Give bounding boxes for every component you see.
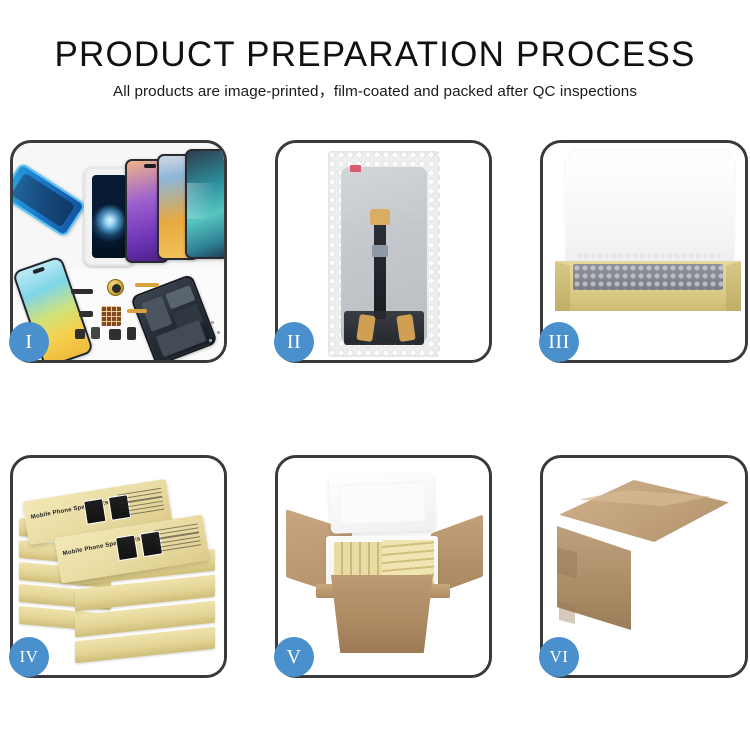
tape-mark (559, 602, 575, 624)
step-badge-3: III (539, 322, 579, 362)
tray-lip-right (726, 261, 741, 311)
carton-side-face (629, 546, 729, 640)
carton-top-face (559, 480, 729, 542)
spare-part-bar (71, 289, 93, 294)
step-badge-6: VI (539, 637, 579, 677)
box-spec-lines (118, 488, 166, 525)
step-2-photo (278, 143, 489, 360)
step-badge-1: I (9, 322, 49, 362)
white-foam-sheet (566, 157, 734, 275)
header: PRODUCT PREPARATION PROCESS All products… (0, 34, 750, 102)
gold-box-tray (555, 261, 741, 311)
gold-connector-right (396, 314, 415, 342)
process-step-panel-1: I (10, 140, 227, 363)
product-preparation-process-page: PRODUCT PREPARATION PROCESS All products… (0, 0, 750, 750)
spare-part-speaker-coil (107, 279, 124, 296)
carton-body (324, 575, 440, 653)
process-step-panel-4: Mobile Phone Spare Parts Mobile Phone Sp… (10, 455, 227, 678)
spare-part-connector (79, 311, 93, 317)
step-5-photo (278, 458, 489, 675)
spare-part-screw (217, 331, 220, 334)
page-title: PRODUCT PREPARATION PROCESS (0, 34, 750, 76)
spare-part-flex-cable (135, 283, 159, 287)
spare-part-grid-chip (101, 306, 121, 326)
glass-wallpaper (92, 175, 127, 258)
process-steps-grid: I II (10, 140, 745, 678)
grey-bubble-wrap-padding (573, 264, 723, 290)
red-label-tab (350, 165, 361, 172)
step-badge-2: II (274, 322, 314, 362)
display-flex-cable (374, 223, 386, 319)
spare-part-screw (211, 321, 214, 324)
spare-part-module (75, 329, 85, 339)
step-badge-5: V (274, 637, 314, 677)
gold-box-stack: Mobile Phone Spare Parts Mobile Phone Sp… (17, 470, 222, 666)
teal-phone-image (185, 149, 224, 259)
box-spec-lines (154, 523, 202, 560)
spare-part-screw (209, 339, 212, 342)
tape-mark (557, 548, 577, 579)
page-subtitle: All products are image-printed，film-coat… (0, 82, 750, 102)
tray-lip-left (555, 261, 570, 311)
spare-part-battery-cell (127, 327, 136, 340)
process-step-panel-3: III (540, 140, 748, 363)
box-artwork-thumbnail (83, 498, 107, 525)
process-step-panel-2: II (275, 140, 492, 363)
spare-part-flex-cable (127, 309, 147, 313)
process-step-panel-5: V (275, 455, 492, 678)
blue-screen-protector-image (13, 162, 87, 238)
bubble-wrap-bag (328, 151, 440, 357)
box-artwork-thumbnail (115, 534, 139, 561)
spare-part-camera (91, 327, 100, 339)
spare-part-module (109, 329, 121, 340)
foam-box-lid (329, 472, 435, 534)
step-1-photo (13, 143, 224, 360)
step-badge-4: IV (9, 637, 49, 677)
process-step-panel-6: VI (540, 455, 748, 678)
step-4-photo: Mobile Phone Spare Parts Mobile Phone Sp… (13, 458, 224, 675)
